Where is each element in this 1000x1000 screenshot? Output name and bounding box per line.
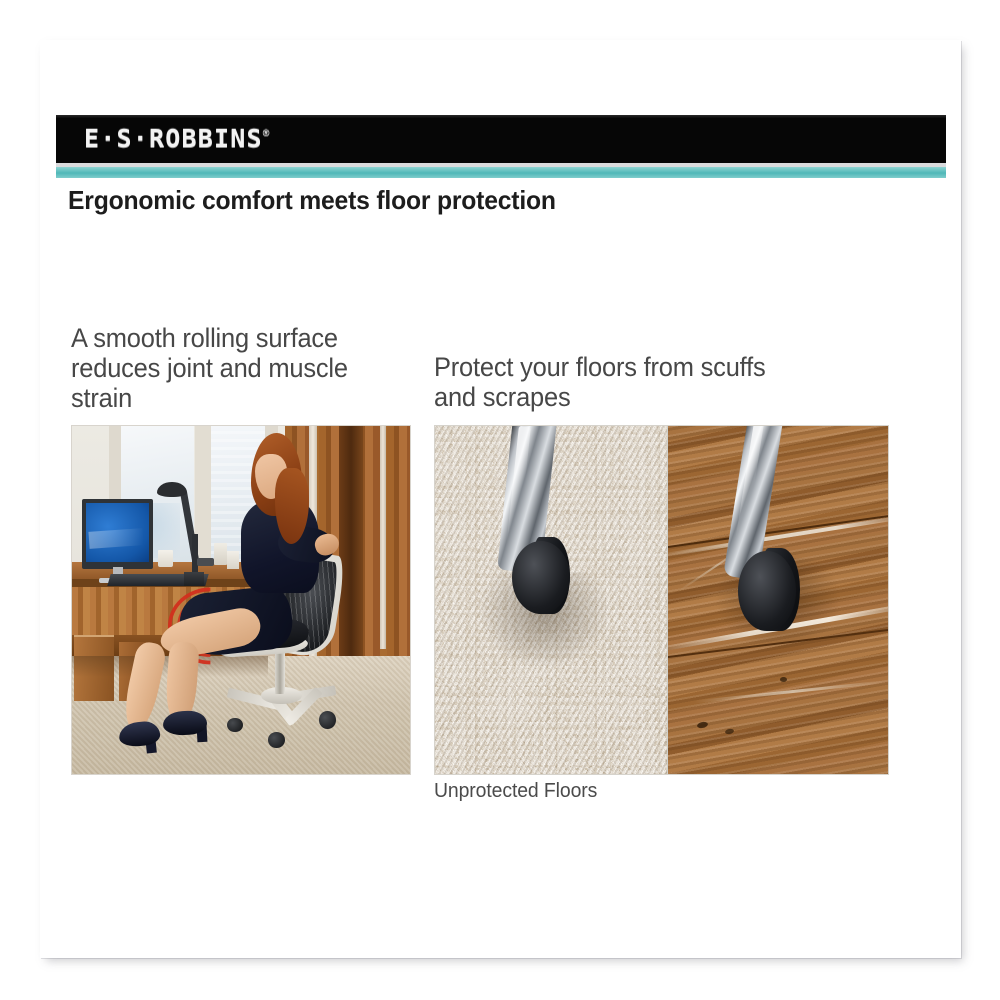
desk-object-1 bbox=[158, 550, 173, 567]
brand-logo: E·S·ROBBINS® bbox=[84, 124, 269, 153]
floor-gouge-3 bbox=[780, 677, 787, 682]
teal-accent-rule bbox=[56, 167, 946, 178]
chair-caster-3 bbox=[227, 718, 242, 732]
wood-panel-seam-2 bbox=[380, 426, 387, 649]
caster-on-carpet-photo bbox=[435, 426, 667, 774]
chair-caster-1 bbox=[319, 711, 336, 728]
desk-lamp-post bbox=[192, 534, 198, 576]
unprotected-floors-photo-pair bbox=[434, 425, 889, 775]
caster-wheel-carpet bbox=[512, 541, 570, 614]
desk-object-3 bbox=[227, 551, 239, 568]
caster-on-hardwood-photo bbox=[667, 426, 888, 774]
brand-bar: E·S·ROBBINS® bbox=[56, 115, 946, 163]
registered-trademark-icon: ® bbox=[263, 128, 270, 138]
unprotected-floors-caption: Unprotected Floors bbox=[434, 780, 597, 803]
desk-object-2 bbox=[214, 543, 228, 566]
brand-logo-text: E·S·ROBBINS bbox=[84, 124, 263, 153]
desk-lamp-knob bbox=[197, 558, 214, 566]
chair-caster-2 bbox=[268, 732, 285, 748]
right-column-heading: Protect your floors from scuffs and scra… bbox=[434, 353, 780, 413]
desk-lamp-shade bbox=[157, 482, 187, 498]
office-ergonomics-photo bbox=[71, 425, 411, 775]
page-title: Ergonomic comfort meets floor protection bbox=[68, 185, 556, 216]
product-info-card: E·S·ROBBINS® Ergonomic comfort meets flo… bbox=[40, 40, 961, 958]
chair-gas-cylinder bbox=[275, 652, 285, 694]
wood-panel-dark-section bbox=[339, 426, 363, 656]
caster-wheel-wood bbox=[738, 551, 795, 631]
left-column-heading: A smooth rolling surface reduces joint a… bbox=[71, 324, 397, 414]
